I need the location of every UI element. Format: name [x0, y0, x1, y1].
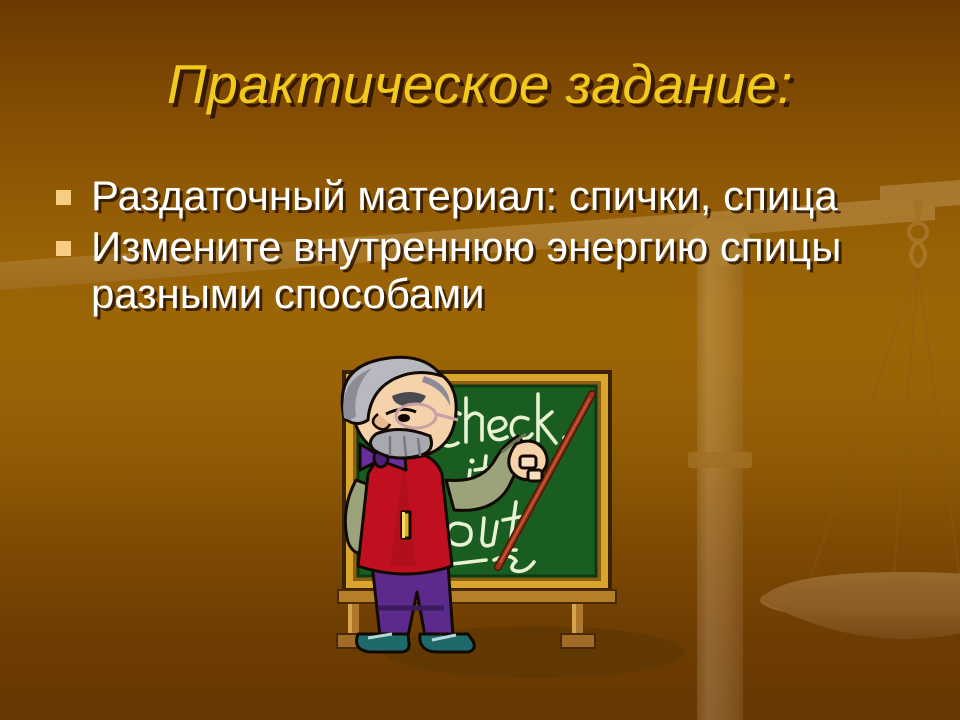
bullet-text: Раздаточный материал: спички, спица	[91, 172, 916, 219]
bullet-item: Измените внутреннюю энергию спицы разным…	[56, 223, 916, 317]
square-bullet-icon	[56, 241, 71, 256]
slide-title: Практическое задание:	[0, 52, 960, 116]
presentation-slide: Практическое задание: Раздаточный матери…	[0, 0, 960, 720]
bullet-list: Раздаточный материал: спички, спица Изме…	[56, 172, 916, 321]
scale-pan-right	[760, 268, 960, 639]
bullet-item: Раздаточный материал: спички, спица	[56, 172, 916, 219]
bullet-text: Измените внутреннюю энергию спицы разным…	[91, 223, 916, 317]
professor-chalkboard-illustration	[320, 352, 720, 720]
square-bullet-icon	[56, 190, 71, 205]
right-hand	[509, 441, 547, 481]
mustache	[370, 429, 431, 458]
